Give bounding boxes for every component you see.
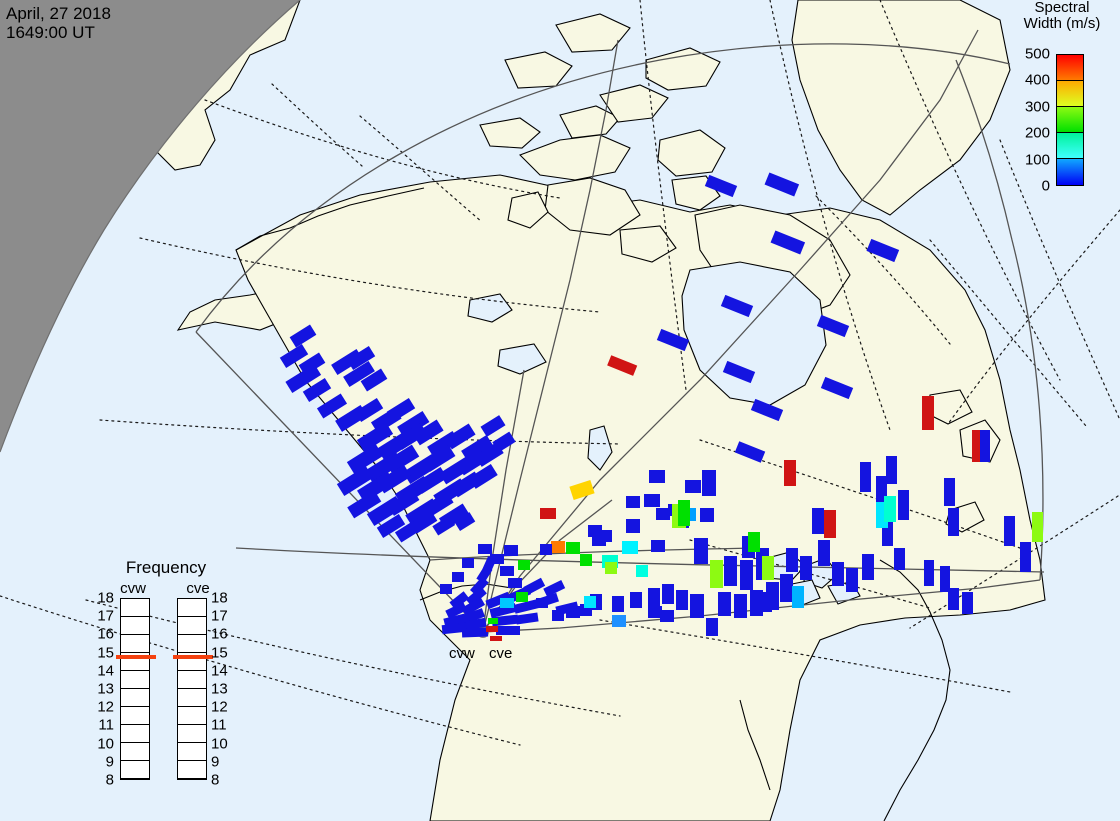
frequency-axis-tick-9: 9 bbox=[92, 753, 114, 770]
frequency-header-cvw: cvw bbox=[110, 580, 156, 597]
frequency-cell bbox=[121, 671, 149, 689]
frequency-axis-tick-18: 18 bbox=[92, 590, 114, 607]
frequency-labels-right: 18171615141312111098 bbox=[211, 598, 233, 780]
frequency-axis-tick-15: 15 bbox=[92, 644, 114, 661]
frequency-cell bbox=[121, 743, 149, 761]
frequency-cell bbox=[121, 707, 149, 725]
frequency-labels-left: 18171615141312111098 bbox=[92, 598, 114, 780]
colorbar-segment-200-300 bbox=[1057, 107, 1083, 133]
colorbar-segment-100-200 bbox=[1057, 133, 1083, 159]
frequency-axis-tick-12: 12 bbox=[211, 699, 233, 716]
frequency-axis-tick-11: 11 bbox=[211, 717, 233, 734]
frequency-column-cve[interactable] bbox=[177, 598, 207, 780]
echo-group-northwest bbox=[280, 325, 516, 543]
frequency-axis-tick-14: 14 bbox=[92, 662, 114, 679]
echo-group-arctic bbox=[607, 172, 990, 538]
frequency-axis-tick-14: 14 bbox=[211, 662, 233, 679]
frequency-cell bbox=[178, 599, 206, 617]
frequency-axis-tick-16: 16 bbox=[211, 626, 233, 643]
radar-map-panel: April, 27 2018 1649:00 UT Spectral Width… bbox=[0, 0, 1120, 821]
frequency-axis-tick-17: 17 bbox=[92, 608, 114, 625]
frequency-axis-tick-10: 10 bbox=[211, 735, 233, 752]
colorbar-tick-500: 500 bbox=[1025, 46, 1050, 63]
frequency-axis-tick-9: 9 bbox=[211, 753, 233, 770]
frequency-axis-tick-12: 12 bbox=[92, 699, 114, 716]
frequency-cell bbox=[178, 689, 206, 707]
radar-echo-layer bbox=[0, 0, 1120, 821]
frequency-axis-tick-18: 18 bbox=[211, 590, 233, 607]
colorbar-gradient bbox=[1056, 54, 1084, 186]
colorbar-segment-400-500 bbox=[1057, 55, 1083, 81]
radar-label-cvw: cvw bbox=[449, 645, 475, 662]
frequency-axis-tick-8: 8 bbox=[92, 772, 114, 789]
colorbar-segment-0-100 bbox=[1057, 159, 1083, 185]
colorbar-title-line1: Spectral bbox=[1004, 0, 1120, 16]
frequency-cell bbox=[178, 707, 206, 725]
timestamp-date: April, 27 2018 bbox=[6, 4, 111, 23]
frequency-cell bbox=[178, 743, 206, 761]
colorbar-tick-400: 400 bbox=[1025, 72, 1050, 89]
timestamp: April, 27 2018 1649:00 UT bbox=[6, 4, 111, 42]
colorbar-segment-300-400 bbox=[1057, 81, 1083, 107]
colorbar-tick-0: 0 bbox=[1042, 178, 1050, 195]
frequency-cell bbox=[121, 599, 149, 617]
frequency-cell bbox=[178, 671, 206, 689]
frequency-axis-tick-8: 8 bbox=[211, 772, 233, 789]
frequency-axis-tick-16: 16 bbox=[92, 626, 114, 643]
colorbar-tick-300: 300 bbox=[1025, 98, 1050, 115]
frequency-marker-cvw bbox=[116, 655, 156, 659]
frequency-cell bbox=[178, 617, 206, 635]
frequency-marker-cve bbox=[173, 655, 213, 659]
radar-label-cve: cve bbox=[489, 645, 512, 662]
frequency-axis-tick-17: 17 bbox=[211, 608, 233, 625]
frequency-cell bbox=[178, 725, 206, 743]
frequency-cell bbox=[121, 635, 149, 653]
colorbar-tick-100: 100 bbox=[1025, 151, 1050, 168]
frequency-cell bbox=[121, 689, 149, 707]
frequency-axis-tick-10: 10 bbox=[92, 735, 114, 752]
colorbar-title-line2: Width (m/s) bbox=[1004, 16, 1120, 32]
colorbar-ticks: 5004003002001000 bbox=[1000, 46, 1050, 194]
frequency-axis-tick-15: 15 bbox=[211, 644, 233, 661]
frequency-cell bbox=[178, 761, 206, 779]
frequency-cell bbox=[178, 635, 206, 653]
colorbar-tick-200: 200 bbox=[1025, 125, 1050, 142]
frequency-column-cvw[interactable] bbox=[120, 598, 150, 780]
frequency-cell bbox=[121, 617, 149, 635]
timestamp-time: 1649:00 UT bbox=[6, 23, 95, 42]
frequency-cell bbox=[121, 761, 149, 779]
frequency-cell bbox=[121, 725, 149, 743]
frequency-axis-tick-13: 13 bbox=[92, 681, 114, 698]
frequency-axis-tick-11: 11 bbox=[92, 717, 114, 734]
colorbar-title: Spectral Width (m/s) bbox=[1004, 0, 1120, 32]
frequency-title: Frequency bbox=[96, 558, 236, 578]
echo-group-near-site bbox=[440, 544, 579, 641]
frequency-axis-tick-13: 13 bbox=[211, 681, 233, 698]
